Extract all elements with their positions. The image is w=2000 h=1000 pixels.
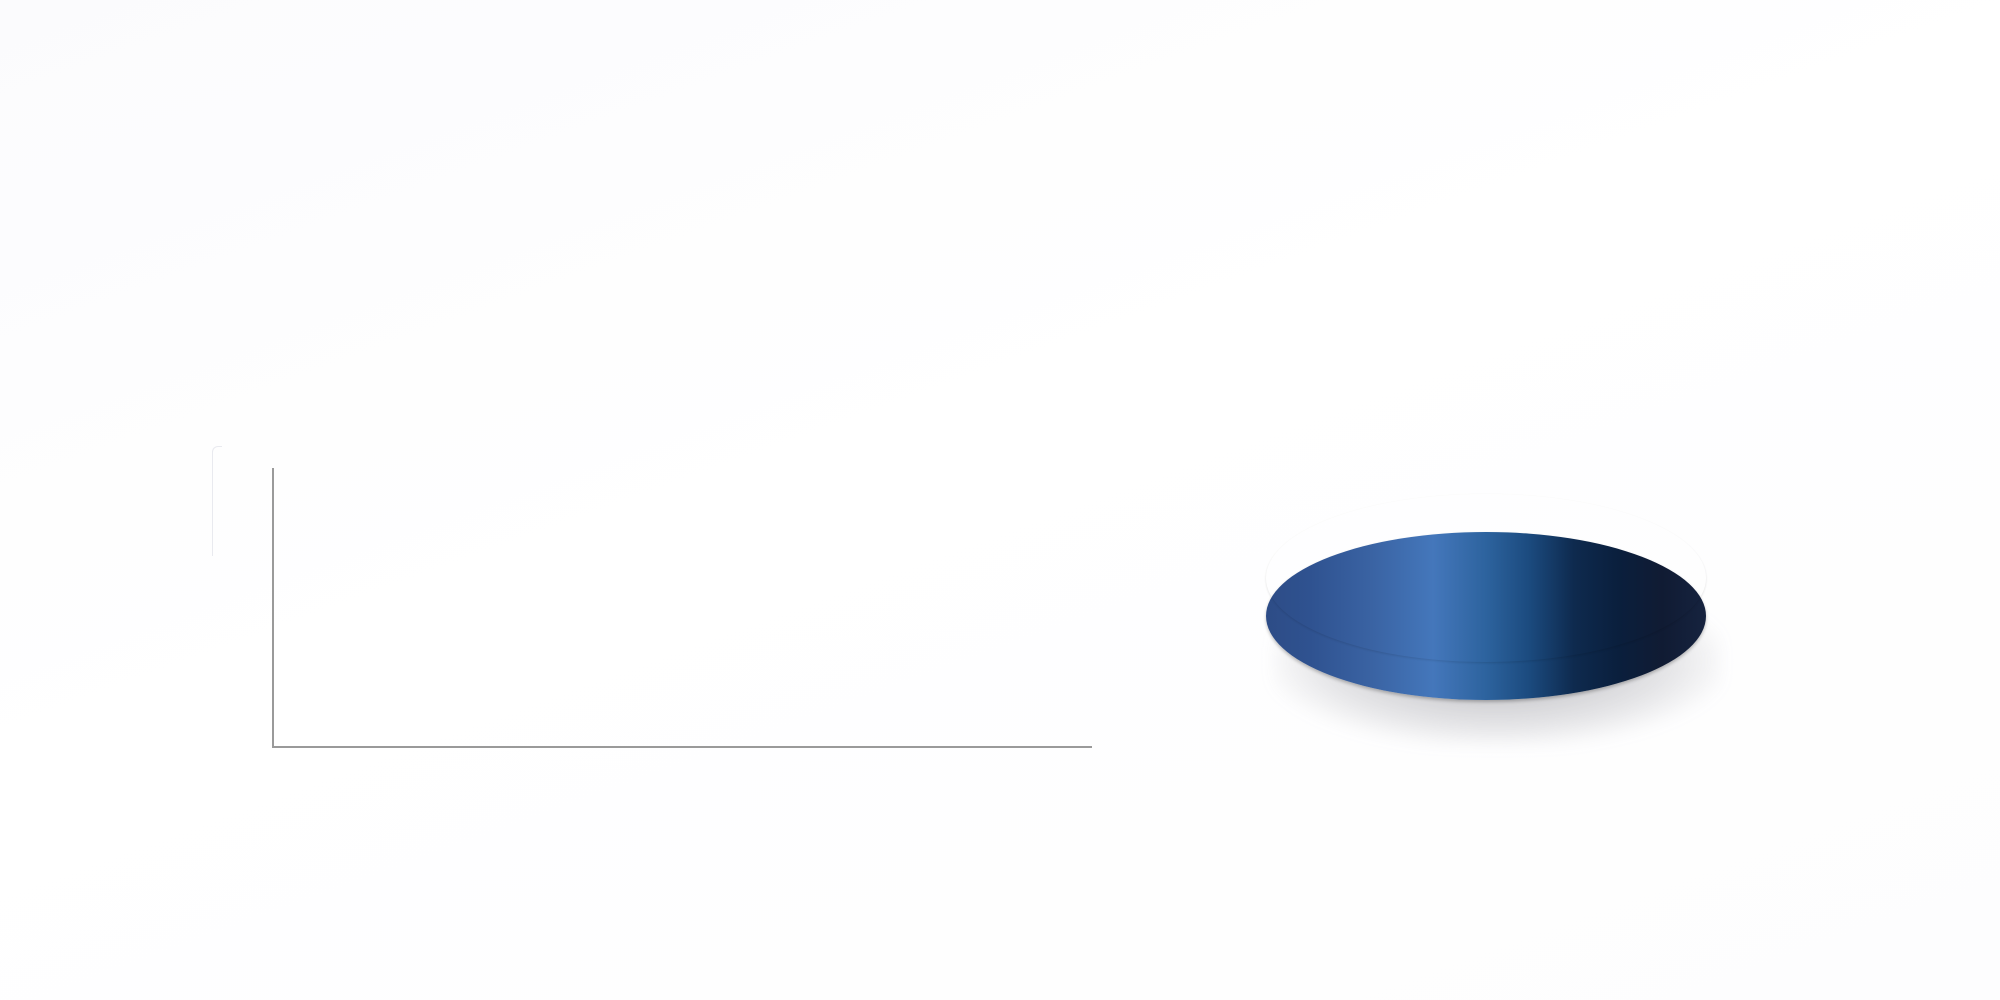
pie-3d-top: [1266, 494, 1706, 662]
slide-canvas: [0, 0, 2000, 1000]
legend-item-2021[interactable]: [420, 468, 446, 485]
bar-chart-legend[interactable]: [360, 468, 446, 485]
pie-chart[interactable]: [1150, 420, 1950, 840]
pie-3d-stage: [1260, 480, 1720, 780]
bar-groups: [274, 468, 1092, 746]
bar-chart[interactable]: [212, 446, 1092, 766]
legend-swatch-2021: [420, 468, 437, 485]
chart-frame-edge: [212, 446, 222, 556]
legend-swatch-2020: [360, 468, 377, 485]
x-axis-line: [272, 746, 1092, 748]
bar-chart-plot-area: [272, 468, 1092, 748]
legend-item-2020[interactable]: [360, 468, 386, 485]
